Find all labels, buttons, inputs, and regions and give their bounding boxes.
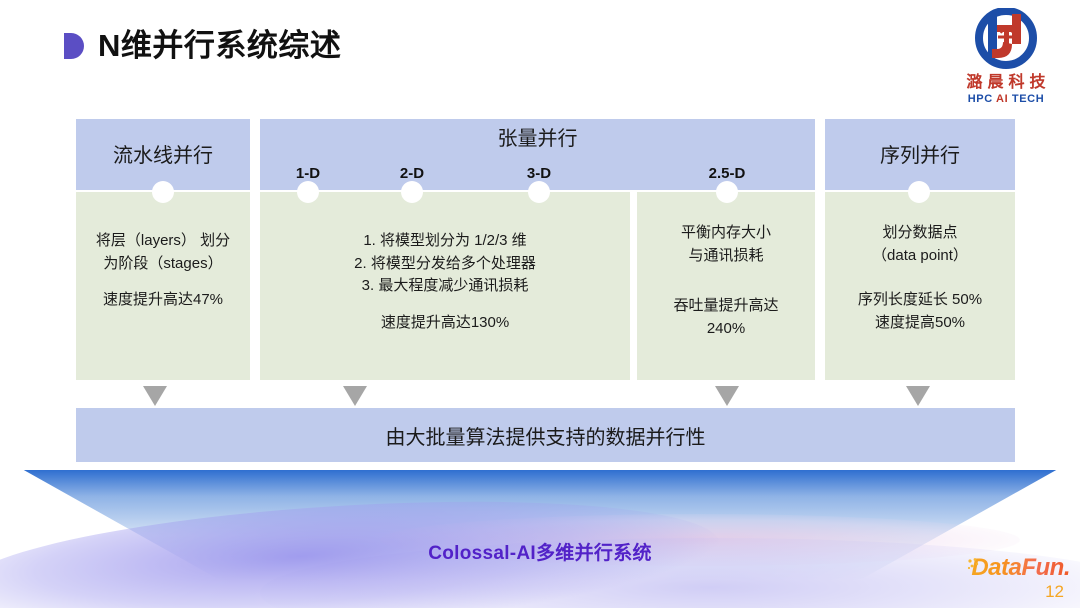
body-line: 划分数据点 — [882, 222, 957, 245]
slide-caption: Colossal-AI多维并行系统 — [0, 538, 1080, 565]
body-sequence-parallel: 划分数据点 （data point） 序列长度延长 50% 速度提高50% — [825, 192, 1015, 380]
arrow-down-icon — [715, 386, 739, 406]
body-line: 序列长度延长 50% — [858, 289, 982, 312]
connector-dot-1d — [297, 181, 319, 203]
body-pipeline-parallel: 将层（layers） 划分 为阶段（stages） 速度提升高达47% — [76, 192, 250, 380]
body-line: 与通讯损耗 — [688, 245, 763, 268]
body-line: 2. 将模型分发给多个处理器 — [354, 253, 536, 276]
body-line: 速度提高50% — [875, 312, 965, 335]
header-tensor-parallel: 张量并行 1-D 2-D 3-D 2.5-D — [260, 119, 815, 190]
connector-dot-2d — [401, 181, 423, 203]
header-pipeline-label: 流水线并行 — [113, 145, 213, 167]
data-parallelism-label: 由大批量算法提供支持的数据并行性 — [386, 421, 706, 450]
data-parallelism-bar: 由大批量算法提供支持的数据并行性 — [76, 408, 1015, 462]
arrow-down-icon — [343, 386, 367, 406]
body-line: 240% — [707, 318, 745, 341]
connector-dot-25d — [716, 181, 738, 203]
sub-label-2d: 2-D — [400, 165, 424, 182]
body-line: 将层（layers） 划分 — [96, 230, 230, 253]
datafun-brand-text: DataFun. — [971, 556, 1070, 580]
datafun-logo: DataFun. — [971, 556, 1070, 580]
body-line: 速度提升高达47% — [103, 289, 223, 312]
header-sequence-parallel: 序列并行 — [825, 119, 1015, 190]
connector-dot-sequence — [908, 181, 930, 203]
connector-dot-pipeline — [152, 181, 174, 203]
arrow-down-icon — [906, 386, 930, 406]
sub-label-1d: 1-D — [296, 165, 320, 182]
header-tensor-label: 张量并行 — [498, 128, 578, 150]
datafun-dots-icon — [967, 557, 983, 573]
body-tensor-parallel-25d: 平衡内存大小 与通讯损耗 吞吐量提升高达 240% — [637, 192, 815, 380]
body-line: 3. 最大程度减少通讯损耗 — [362, 275, 529, 298]
header-pipeline-parallel: 流水线并行 — [76, 119, 250, 190]
body-line: 为阶段（stages） — [103, 253, 222, 276]
connector-dot-3d — [528, 181, 550, 203]
sub-label-3d: 3-D — [527, 165, 551, 182]
body-line: （data point） — [872, 245, 968, 268]
slide-root: N维并行系统综述 潞晨科技 HPC AI TECH 流水线并行 — [0, 0, 1080, 608]
body-tensor-parallel-123d: 1. 将模型划分为 1/2/3 维 2. 将模型分发给多个处理器 3. 最大程度… — [260, 192, 630, 380]
sub-label-25d: 2.5-D — [709, 165, 746, 182]
body-line: 1. 将模型划分为 1/2/3 维 — [363, 230, 526, 253]
body-line: 速度提升高达130% — [381, 312, 509, 335]
body-line: 吞吐量提升高达 — [673, 295, 778, 318]
arrow-down-icon — [143, 386, 167, 406]
page-number: 12 — [1045, 582, 1064, 602]
header-sequence-label: 序列并行 — [880, 145, 960, 167]
body-line: 平衡内存大小 — [681, 222, 771, 245]
